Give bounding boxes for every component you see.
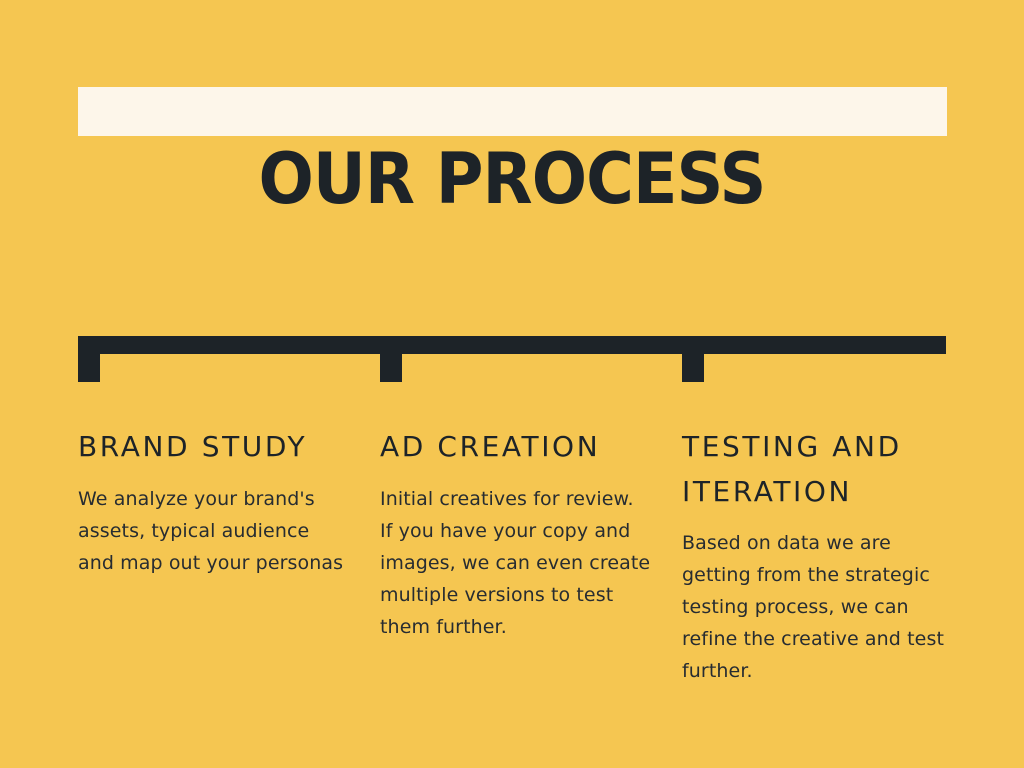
page-title: OUR PROCESS	[36, 139, 988, 219]
step-column-testing-and-iteration: TESTING AND ITERATION Based on data we a…	[682, 424, 954, 687]
step-heading-testing-and-iteration: TESTING AND ITERATION	[682, 424, 954, 514]
step-column-ad-creation: AD CREATION Initial creatives for review…	[380, 424, 652, 643]
slide-canvas: OUR PROCESS BRAND STUDY We analyze your …	[0, 0, 1024, 768]
step-body-testing-and-iteration: Based on data we are getting from the st…	[682, 527, 954, 687]
timeline-tick-1	[78, 336, 100, 382]
timeline-tick-3	[682, 336, 704, 382]
step-body-ad-creation: Initial creatives for review. If you hav…	[380, 483, 652, 643]
timeline-tick-2	[380, 336, 402, 382]
step-heading-brand-study: BRAND STUDY	[78, 424, 348, 469]
step-column-brand-study: BRAND STUDY We analyze your brand's asse…	[78, 424, 348, 579]
step-body-brand-study: We analyze your brand's assets, typical …	[78, 483, 348, 579]
step-heading-ad-creation: AD CREATION	[380, 424, 652, 469]
process-timeline	[78, 336, 946, 382]
title-banner	[78, 87, 947, 136]
timeline-bar	[78, 336, 946, 354]
